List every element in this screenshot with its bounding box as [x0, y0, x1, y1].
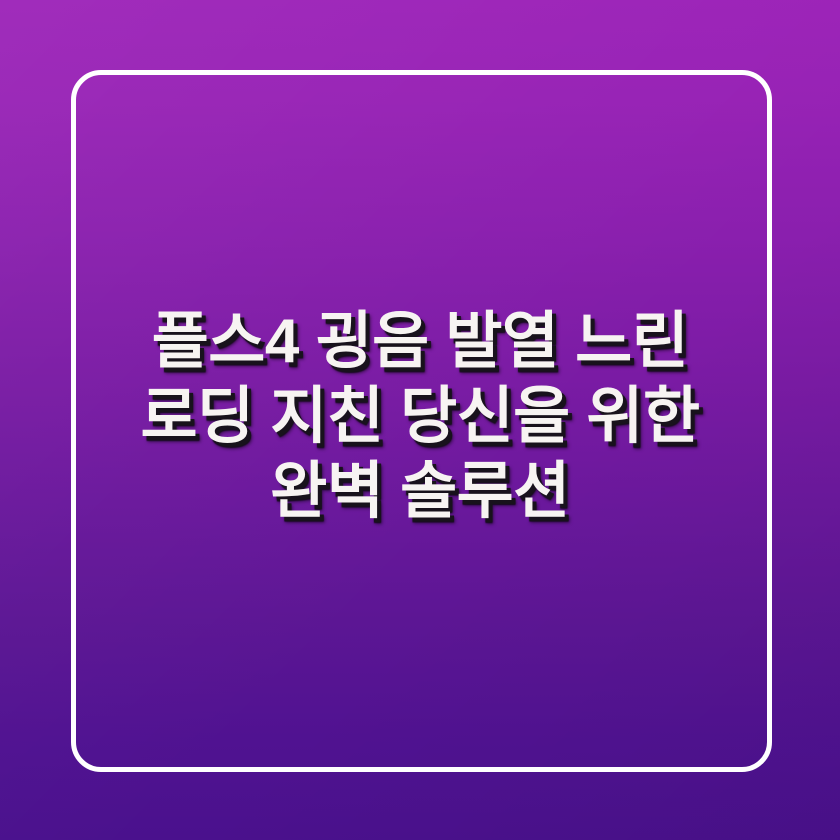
- headline-block: 플스4 굉음 발열 느린 로딩 지친 당신을 위한 완벽 솔루션: [0, 304, 840, 529]
- headline-line-3: 완벽 솔루션: [270, 454, 569, 529]
- headline-line-2: 로딩 지친 당신을 위한: [140, 379, 699, 454]
- headline-line-1: 플스4 굉음 발열 느린: [152, 304, 688, 379]
- promo-card: 플스4 굉음 발열 느린 로딩 지친 당신을 위한 완벽 솔루션: [0, 0, 840, 840]
